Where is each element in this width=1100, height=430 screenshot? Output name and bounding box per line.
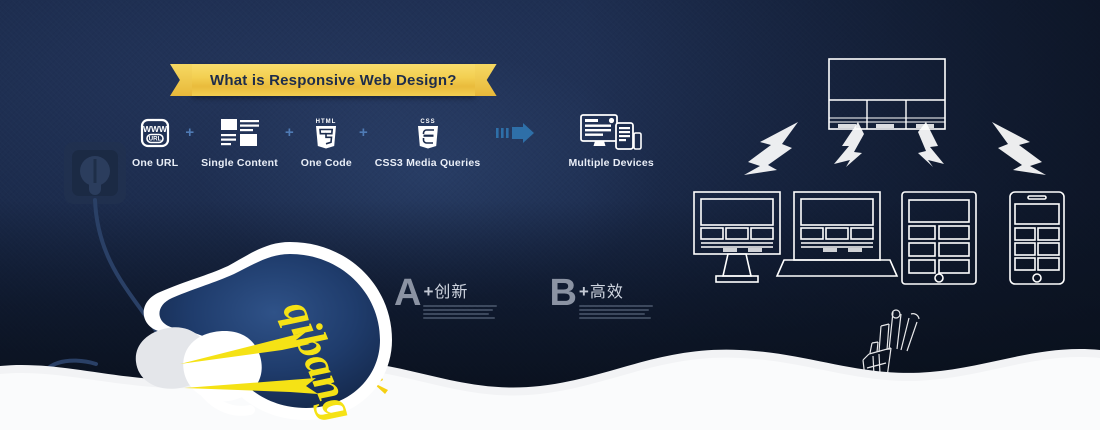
formula-plus: + — [359, 124, 368, 141]
ribbon-left-cap — [170, 64, 192, 96]
smartphone-icon — [1010, 192, 1064, 284]
ribbon-title: What is Responsive Web Design? — [210, 72, 457, 89]
svg-text:WWW: WWW — [143, 124, 168, 134]
feature-term: 创新 — [434, 278, 468, 302]
content-blocks-icon — [220, 116, 260, 150]
multiple-devices-icon — [580, 116, 642, 150]
laptop-icon — [777, 192, 897, 276]
formula-item-single-content: Single Content — [201, 116, 278, 169]
svg-text:URL: URL — [149, 136, 162, 143]
formula-result-label: Multiple Devices — [568, 157, 653, 169]
ribbon-body: What is Responsive Web Design? — [192, 64, 475, 96]
formula-result-multiple-devices: Multiple Devices — [568, 116, 653, 169]
feature-plus: + — [423, 282, 433, 302]
curved-arrow-icon — [834, 122, 864, 167]
formula-label: Single Content — [201, 157, 278, 169]
diagram-arrows — [730, 120, 1070, 180]
formula-plus: + — [285, 124, 294, 141]
formula-label: One Code — [301, 157, 352, 169]
curved-arrow-icon — [744, 122, 798, 175]
ribbon-right-cap — [475, 64, 497, 96]
svg-text:CSS: CSS — [420, 119, 435, 125]
curved-arrow-icon — [992, 122, 1046, 175]
css3-icon: CSS — [414, 116, 442, 150]
section-ribbon: What is Responsive Web Design? — [170, 64, 497, 96]
lightbulb-icon: qibang — [110, 236, 410, 426]
feature-term: 高效 — [590, 278, 624, 302]
responsive-formula: WWW URL One URL + — [132, 116, 654, 169]
bulb-base — [136, 327, 262, 411]
formula-item-css3: CSS CSS3 Media Queries — [375, 116, 481, 169]
feature-description-lines — [423, 305, 497, 319]
device-row — [690, 190, 1080, 290]
formula-label: CSS3 Media Queries — [375, 157, 481, 169]
svg-text:HTML: HTML — [316, 119, 337, 125]
formula-plus: + — [185, 124, 194, 141]
feature-item-b: B + 高效 — [549, 276, 652, 321]
feature-list: A + 创新 B + 高效 — [394, 276, 653, 321]
feature-plus: + — [579, 282, 589, 302]
formula-item-one-url: WWW URL One URL — [132, 116, 178, 169]
curved-arrow-icon — [918, 122, 944, 167]
formula-item-one-code: HTML One Code — [301, 116, 352, 169]
motion-arrow-icon — [496, 122, 538, 144]
feature-letter: B — [549, 276, 576, 310]
banner-hero: What is Responsive Web Design? WWW URL O… — [0, 0, 1100, 430]
formula-label: One URL — [132, 157, 178, 169]
tablet-icon — [902, 192, 976, 284]
desktop-monitor-icon — [694, 192, 780, 282]
feature-description-lines — [579, 305, 653, 319]
html5-icon: HTML — [312, 116, 340, 150]
url-icon: WWW URL — [139, 116, 171, 150]
